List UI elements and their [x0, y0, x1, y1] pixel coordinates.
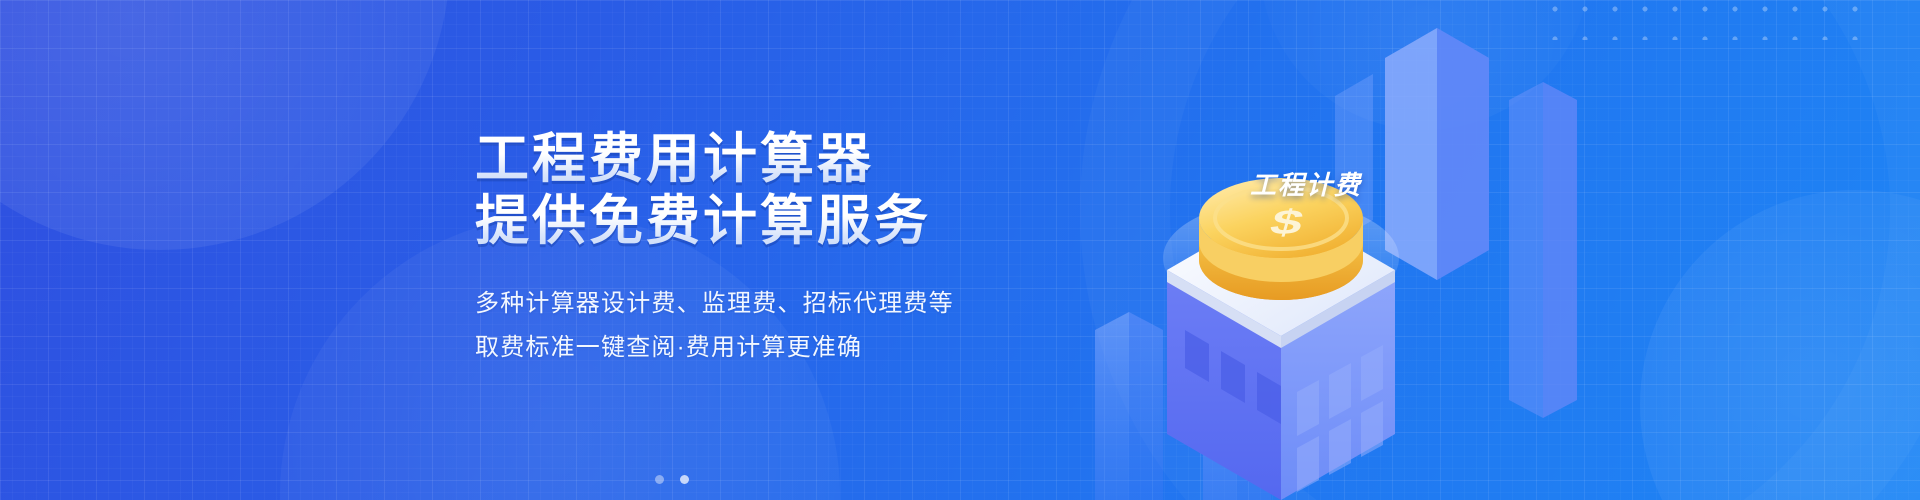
headline-line-1: 工程费用计算器: [475, 128, 1115, 190]
promo-banner: 工程费用计算器 提供免费计算服务 多种计算器设计费、监理费、招标代理费等 取费标…: [0, 0, 1920, 500]
illustration-engineering-fee: $ 工程计费: [1085, 0, 1585, 500]
dot-matrix-pattern: [1540, 0, 1870, 40]
subtitle-line-1: 多种计算器设计费、监理费、招标代理费等: [475, 282, 1115, 326]
carousel-dot-1[interactable]: [655, 475, 664, 484]
decorative-circle-bottom-right: [1640, 190, 1920, 500]
banner-copy: 工程费用计算器 提供免费计算服务 多种计算器设计费、监理费、招标代理费等 取费标…: [475, 128, 1115, 370]
carousel-indicators[interactable]: [655, 475, 689, 484]
illustration-label: 工程计费: [1250, 165, 1362, 202]
headline-line-2: 提供免费计算服务: [475, 190, 1115, 252]
subtitle-line-2: 取费标准一键查阅·费用计算更准确: [475, 326, 1115, 370]
carousel-dot-2[interactable]: [680, 475, 689, 484]
illustration-svg: $: [1085, 0, 1585, 500]
decorative-circle-top-left: [0, 0, 450, 250]
